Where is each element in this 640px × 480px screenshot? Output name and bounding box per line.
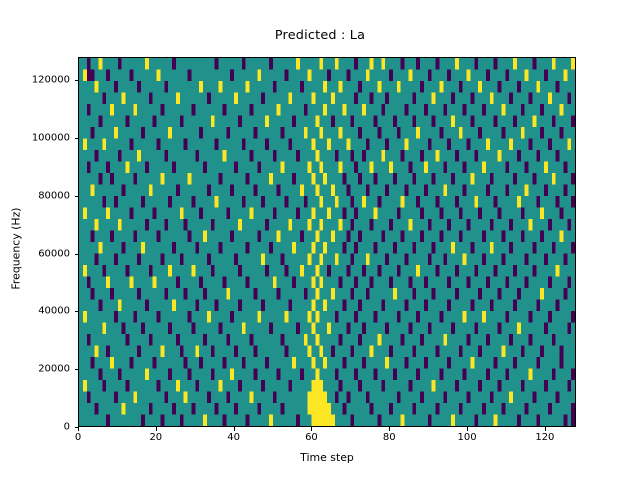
heatmap-cell — [319, 346, 323, 358]
heatmap-cell — [312, 300, 316, 312]
y-tick-mark — [75, 80, 79, 81]
heatmap-cell — [87, 58, 91, 70]
heatmap-cell — [172, 162, 176, 174]
heatmap-cell — [525, 70, 529, 82]
heatmap-cell — [215, 300, 219, 312]
heatmap-cell — [354, 58, 358, 70]
heatmap-cell — [563, 288, 567, 300]
heatmap-cell — [133, 311, 137, 323]
heatmap-cell — [172, 300, 176, 312]
x-tick-mark — [156, 427, 157, 431]
heatmap-cell — [424, 104, 428, 116]
heatmap-cell — [219, 323, 223, 335]
heatmap-cell — [428, 323, 432, 335]
heatmap-cell — [83, 70, 87, 82]
heatmap-cell — [412, 116, 416, 128]
heatmap-cell — [439, 81, 443, 93]
heatmap-cell — [257, 403, 261, 415]
heatmap-cell — [195, 346, 199, 358]
heatmap-cell — [226, 127, 230, 139]
heatmap-cell — [284, 196, 288, 208]
heatmap-cell — [447, 139, 451, 151]
heatmap-cell — [447, 277, 451, 289]
heatmap-cell — [315, 392, 319, 404]
heatmap-cell — [339, 162, 343, 174]
heatmap-cell — [273, 208, 277, 220]
heatmap-cell — [83, 265, 87, 277]
heatmap-cell — [436, 150, 440, 162]
heatmap-cell — [374, 311, 378, 323]
heatmap-cell — [517, 415, 521, 427]
heatmap-cell — [137, 81, 141, 93]
heatmap-cell — [211, 116, 215, 128]
heatmap-cell — [246, 173, 250, 185]
heatmap-cell — [482, 254, 486, 266]
heatmap-cell — [451, 93, 455, 105]
heatmap-cell — [536, 196, 540, 208]
heatmap-cell — [401, 196, 405, 208]
heatmap-cell — [432, 242, 436, 254]
heatmap-cell — [315, 415, 319, 427]
heatmap-cell — [203, 231, 207, 243]
heatmap-cell — [172, 242, 176, 254]
heatmap-cell — [463, 162, 467, 174]
heatmap-cell — [455, 196, 459, 208]
heatmap-cell — [424, 357, 428, 369]
heatmap-cell — [188, 173, 192, 185]
heatmap-cell — [381, 380, 385, 392]
heatmap-cell — [540, 104, 544, 116]
heatmap-cell — [149, 93, 153, 105]
heatmap-cell — [463, 104, 467, 116]
heatmap-cell — [571, 415, 575, 427]
heatmap-cell — [501, 127, 505, 139]
heatmap-cell — [498, 81, 502, 93]
heatmap-cell — [358, 334, 362, 346]
heatmap-cell — [118, 150, 122, 162]
heatmap-cell — [312, 392, 316, 404]
heatmap-cell — [366, 288, 370, 300]
heatmap-cell — [420, 334, 424, 346]
heatmap-cell — [226, 392, 230, 404]
heatmap-cell — [335, 150, 339, 162]
heatmap-cell — [331, 231, 335, 243]
heatmap-cell — [277, 231, 281, 243]
heatmap-cell — [110, 288, 114, 300]
heatmap-cell — [129, 70, 133, 82]
heatmap-cell — [498, 150, 502, 162]
heatmap-cell — [323, 357, 327, 369]
heatmap-cell — [188, 70, 192, 82]
heatmap-cell — [374, 242, 378, 254]
heatmap-cell — [486, 70, 490, 82]
heatmap-cell — [129, 208, 133, 220]
heatmap-cell — [501, 231, 505, 243]
heatmap-cell — [327, 403, 331, 415]
heatmap-cell — [467, 139, 471, 151]
heatmap-cell — [195, 300, 199, 312]
heatmap-cell — [250, 392, 254, 404]
heatmap-cell — [153, 208, 157, 220]
heatmap-cell — [455, 288, 459, 300]
heatmap-cell — [358, 231, 362, 243]
heatmap-cell — [474, 58, 478, 70]
x-tick-label: 120 — [535, 432, 554, 443]
heatmap-cell — [556, 81, 560, 93]
heatmap-cell — [149, 334, 153, 346]
heatmap-cell — [261, 254, 265, 266]
heatmap-cell — [478, 380, 482, 392]
heatmap-cell — [517, 150, 521, 162]
heatmap-cell — [397, 208, 401, 220]
heatmap-cell — [486, 277, 490, 289]
heatmap-cell — [246, 277, 250, 289]
heatmap-cell — [257, 162, 261, 174]
heatmap-cell — [509, 219, 513, 231]
heatmap-cell — [339, 219, 343, 231]
heatmap-cell — [521, 346, 525, 358]
heatmap-cell — [552, 242, 556, 254]
heatmap-cell — [304, 104, 308, 116]
heatmap-cell — [184, 392, 188, 404]
heatmap-cell — [319, 380, 323, 392]
heatmap-cell — [250, 208, 254, 220]
heatmap-cell — [312, 357, 316, 369]
heatmap-cell — [463, 369, 467, 381]
heatmap-cell — [443, 104, 447, 116]
heatmap-cell — [436, 403, 440, 415]
heatmap-cell — [315, 288, 319, 300]
heatmap-cell — [397, 127, 401, 139]
heatmap-cell — [114, 254, 118, 266]
heatmap-cell — [114, 127, 118, 139]
heatmap-cell — [517, 288, 521, 300]
heatmap-cell — [308, 392, 312, 404]
heatmap-cell — [343, 208, 347, 220]
heatmap-cell — [486, 139, 490, 151]
heatmap-cell — [567, 139, 571, 151]
heatmap-cell — [83, 380, 87, 392]
heatmap-cell — [494, 415, 498, 427]
heatmap-cell — [157, 231, 161, 243]
heatmap-cell — [571, 403, 575, 415]
heatmap-cell — [226, 288, 230, 300]
heatmap-cell — [525, 277, 529, 289]
heatmap-cell — [552, 369, 556, 381]
heatmap-cell — [556, 300, 560, 312]
heatmap-cell — [331, 346, 335, 358]
heatmap-cell — [529, 311, 533, 323]
heatmap-cell — [137, 288, 141, 300]
heatmap-cell — [242, 139, 246, 151]
heatmap-cell — [95, 81, 99, 93]
heatmap-cell — [560, 231, 564, 243]
heatmap-cell — [98, 58, 102, 70]
heatmap-cell — [354, 162, 358, 174]
y-tick-mark — [75, 196, 79, 197]
heatmap-cell — [312, 403, 316, 415]
heatmap-cell — [381, 300, 385, 312]
heatmap-cell — [164, 150, 168, 162]
heatmap-cell — [420, 150, 424, 162]
heatmap-cell — [529, 334, 533, 346]
heatmap-cell — [164, 392, 168, 404]
heatmap-cell — [188, 311, 192, 323]
heatmap-cell — [346, 70, 350, 82]
heatmap-cell — [474, 323, 478, 335]
heatmap-cell — [269, 323, 273, 335]
heatmap-cell — [521, 208, 525, 220]
heatmap-cell — [571, 369, 575, 381]
heatmap-cell — [129, 139, 133, 151]
heatmap-cell — [219, 242, 223, 254]
heatmap-cell — [556, 265, 560, 277]
heatmap-cell — [323, 415, 327, 427]
heatmap-cell — [160, 173, 164, 185]
heatmap-cell — [315, 116, 319, 128]
heatmap-cell — [153, 357, 157, 369]
heatmap-cell — [366, 185, 370, 197]
heatmap-cell — [133, 231, 137, 243]
heatmap-cell — [106, 277, 110, 289]
heatmap-cell — [265, 116, 269, 128]
heatmap-cell — [91, 127, 95, 139]
heatmap-cell — [455, 150, 459, 162]
heatmap-cell — [102, 196, 106, 208]
heatmap-cell — [118, 369, 122, 381]
heatmap-cell — [308, 219, 312, 231]
heatmap-cell — [219, 380, 223, 392]
heatmap-cell — [207, 392, 211, 404]
heatmap-cell — [397, 392, 401, 404]
heatmap-cell — [327, 208, 331, 220]
heatmap-cell — [385, 254, 389, 266]
heatmap-cell — [350, 196, 354, 208]
heatmap-cell — [207, 254, 211, 266]
heatmap-cell — [300, 369, 304, 381]
heatmap-cell — [211, 219, 215, 231]
heatmap-cell — [443, 254, 447, 266]
heatmap-cell — [350, 116, 354, 128]
heatmap-cell — [238, 265, 242, 277]
heatmap-cell — [110, 357, 114, 369]
heatmap-cell — [408, 162, 412, 174]
y-tick-mark — [75, 427, 79, 428]
heatmap-cell — [532, 173, 536, 185]
heatmap-cell — [253, 127, 257, 139]
heatmap-cell — [281, 403, 285, 415]
heatmap-cell — [416, 58, 420, 70]
heatmap-cell — [281, 162, 285, 174]
heatmap-cell — [401, 334, 405, 346]
heatmap-cell — [315, 265, 319, 277]
heatmap-cell — [319, 392, 323, 404]
heatmap-cell — [517, 81, 521, 93]
heatmap-cell — [560, 104, 564, 116]
heatmap-cell — [350, 254, 354, 266]
heatmap-cell — [315, 185, 319, 197]
heatmap-cell — [389, 403, 393, 415]
heatmap-cell — [246, 81, 250, 93]
heatmap-cell — [571, 196, 575, 208]
heatmap-cell — [288, 139, 292, 151]
heatmap-cell — [424, 162, 428, 174]
heatmap-cell — [164, 288, 168, 300]
heatmap-cell — [323, 242, 327, 254]
heatmap-cell — [145, 58, 149, 70]
heatmap-cell — [215, 139, 219, 151]
heatmap-cell — [505, 162, 509, 174]
heatmap-cell — [222, 357, 226, 369]
heatmap-cell — [284, 265, 288, 277]
heatmap-cell — [478, 346, 482, 358]
heatmap-cell — [354, 369, 358, 381]
heatmap-cell — [230, 185, 234, 197]
heatmap-cell — [412, 288, 416, 300]
heatmap-cell — [513, 357, 517, 369]
heatmap-cell — [300, 265, 304, 277]
heatmap-cell — [238, 300, 242, 312]
heatmap-cell — [494, 265, 498, 277]
heatmap-cell — [246, 242, 250, 254]
heatmap-cell — [416, 311, 420, 323]
heatmap-cell — [234, 254, 238, 266]
heatmap-cell — [381, 231, 385, 243]
heatmap-cell — [498, 288, 502, 300]
heatmap-cell — [536, 357, 540, 369]
heatmap-cell — [133, 173, 137, 185]
heatmap-cell — [381, 58, 385, 70]
heatmap-cell — [428, 254, 432, 266]
heatmap-cell — [567, 219, 571, 231]
heatmap-cell — [273, 81, 277, 93]
heatmap-cell — [451, 323, 455, 335]
x-tick-mark — [234, 427, 235, 431]
heatmap-cell — [153, 116, 157, 128]
heatmap-cell — [478, 81, 482, 93]
heatmap-cell — [408, 219, 412, 231]
heatmap-cell — [401, 150, 405, 162]
heatmap-cell — [343, 357, 347, 369]
heatmap-cell — [536, 81, 540, 93]
page-title: Predicted : La — [0, 28, 640, 43]
heatmap-cell — [560, 208, 564, 220]
heatmap-cell — [126, 334, 130, 346]
heatmap-cell — [308, 254, 312, 266]
heatmap-cell — [447, 219, 451, 231]
heatmap-cell — [296, 208, 300, 220]
heatmap-cell — [253, 288, 257, 300]
heatmap-cell — [335, 196, 339, 208]
heatmap-cell — [521, 127, 525, 139]
heatmap-cell — [180, 254, 184, 266]
heatmap-cell — [114, 196, 118, 208]
heatmap-cell — [439, 231, 443, 243]
heatmap-cell — [532, 392, 536, 404]
heatmap-cell — [393, 369, 397, 381]
heatmap-cell — [335, 392, 339, 404]
heatmap-cell — [335, 254, 339, 266]
heatmap-cell — [184, 288, 188, 300]
heatmap-cell — [106, 162, 110, 174]
heatmap-cell — [149, 185, 153, 197]
heatmap-cell — [389, 70, 393, 82]
x-tick-mark — [545, 427, 546, 431]
heatmap-cell — [501, 403, 505, 415]
heatmap-cell — [420, 81, 424, 93]
heatmap-cell — [168, 265, 172, 277]
heatmap-cell — [370, 162, 374, 174]
heatmap-cell — [505, 70, 509, 82]
heatmap-cell — [277, 369, 281, 381]
heatmap-cell — [393, 288, 397, 300]
heatmap-cell — [315, 311, 319, 323]
heatmap-cell — [98, 369, 102, 381]
heatmap-cell — [226, 208, 230, 220]
heatmap-cell — [443, 185, 447, 197]
heatmap-cell — [505, 311, 509, 323]
heatmap-cell — [269, 173, 273, 185]
heatmap-cell — [560, 357, 564, 369]
heatmap-cell — [428, 70, 432, 82]
heatmap-cell — [203, 288, 207, 300]
heatmap-cell — [490, 173, 494, 185]
heatmap-cell — [358, 173, 362, 185]
heatmap-cell — [226, 334, 230, 346]
heatmap-cell — [377, 415, 381, 427]
heatmap-cell — [91, 231, 95, 243]
heatmap-cell — [327, 70, 331, 82]
heatmap-cell — [401, 231, 405, 243]
heatmap-cell — [509, 242, 513, 254]
heatmap-cell — [525, 185, 529, 197]
heatmap-cell — [149, 403, 153, 415]
heatmap-cell — [525, 254, 529, 266]
heatmap-cell — [343, 104, 347, 116]
heatmap-cell — [319, 277, 323, 289]
heatmap-cell — [126, 116, 130, 128]
heatmap-cell — [451, 173, 455, 185]
heatmap-cell — [281, 127, 285, 139]
heatmap-cell — [304, 334, 308, 346]
heatmap-cell — [157, 70, 161, 82]
heatmap-cell — [102, 93, 106, 105]
heatmap-cell — [323, 403, 327, 415]
heatmap-cell — [102, 265, 106, 277]
heatmap-cell — [463, 185, 467, 197]
heatmap-cell — [482, 162, 486, 174]
heatmap-cell — [292, 242, 296, 254]
heatmap-cell — [265, 219, 269, 231]
heatmap-cell — [470, 242, 474, 254]
heatmap-cell — [315, 150, 319, 162]
heatmap-cell — [234, 93, 238, 105]
heatmap-cell — [207, 185, 211, 197]
heatmap-cell — [459, 208, 463, 220]
x-tick-label: 60 — [305, 432, 318, 443]
heatmap-cell — [176, 185, 180, 197]
heatmap-cell — [327, 265, 331, 277]
heatmap-cell — [191, 265, 195, 277]
heatmap-cell — [160, 415, 164, 427]
heatmap-cell — [261, 380, 265, 392]
heatmap-cell — [486, 334, 490, 346]
x-tick-label: 100 — [458, 432, 477, 443]
heatmap-cell — [358, 380, 362, 392]
heatmap-cell — [234, 403, 238, 415]
heatmap-cell — [168, 323, 172, 335]
heatmap-cell — [374, 173, 378, 185]
